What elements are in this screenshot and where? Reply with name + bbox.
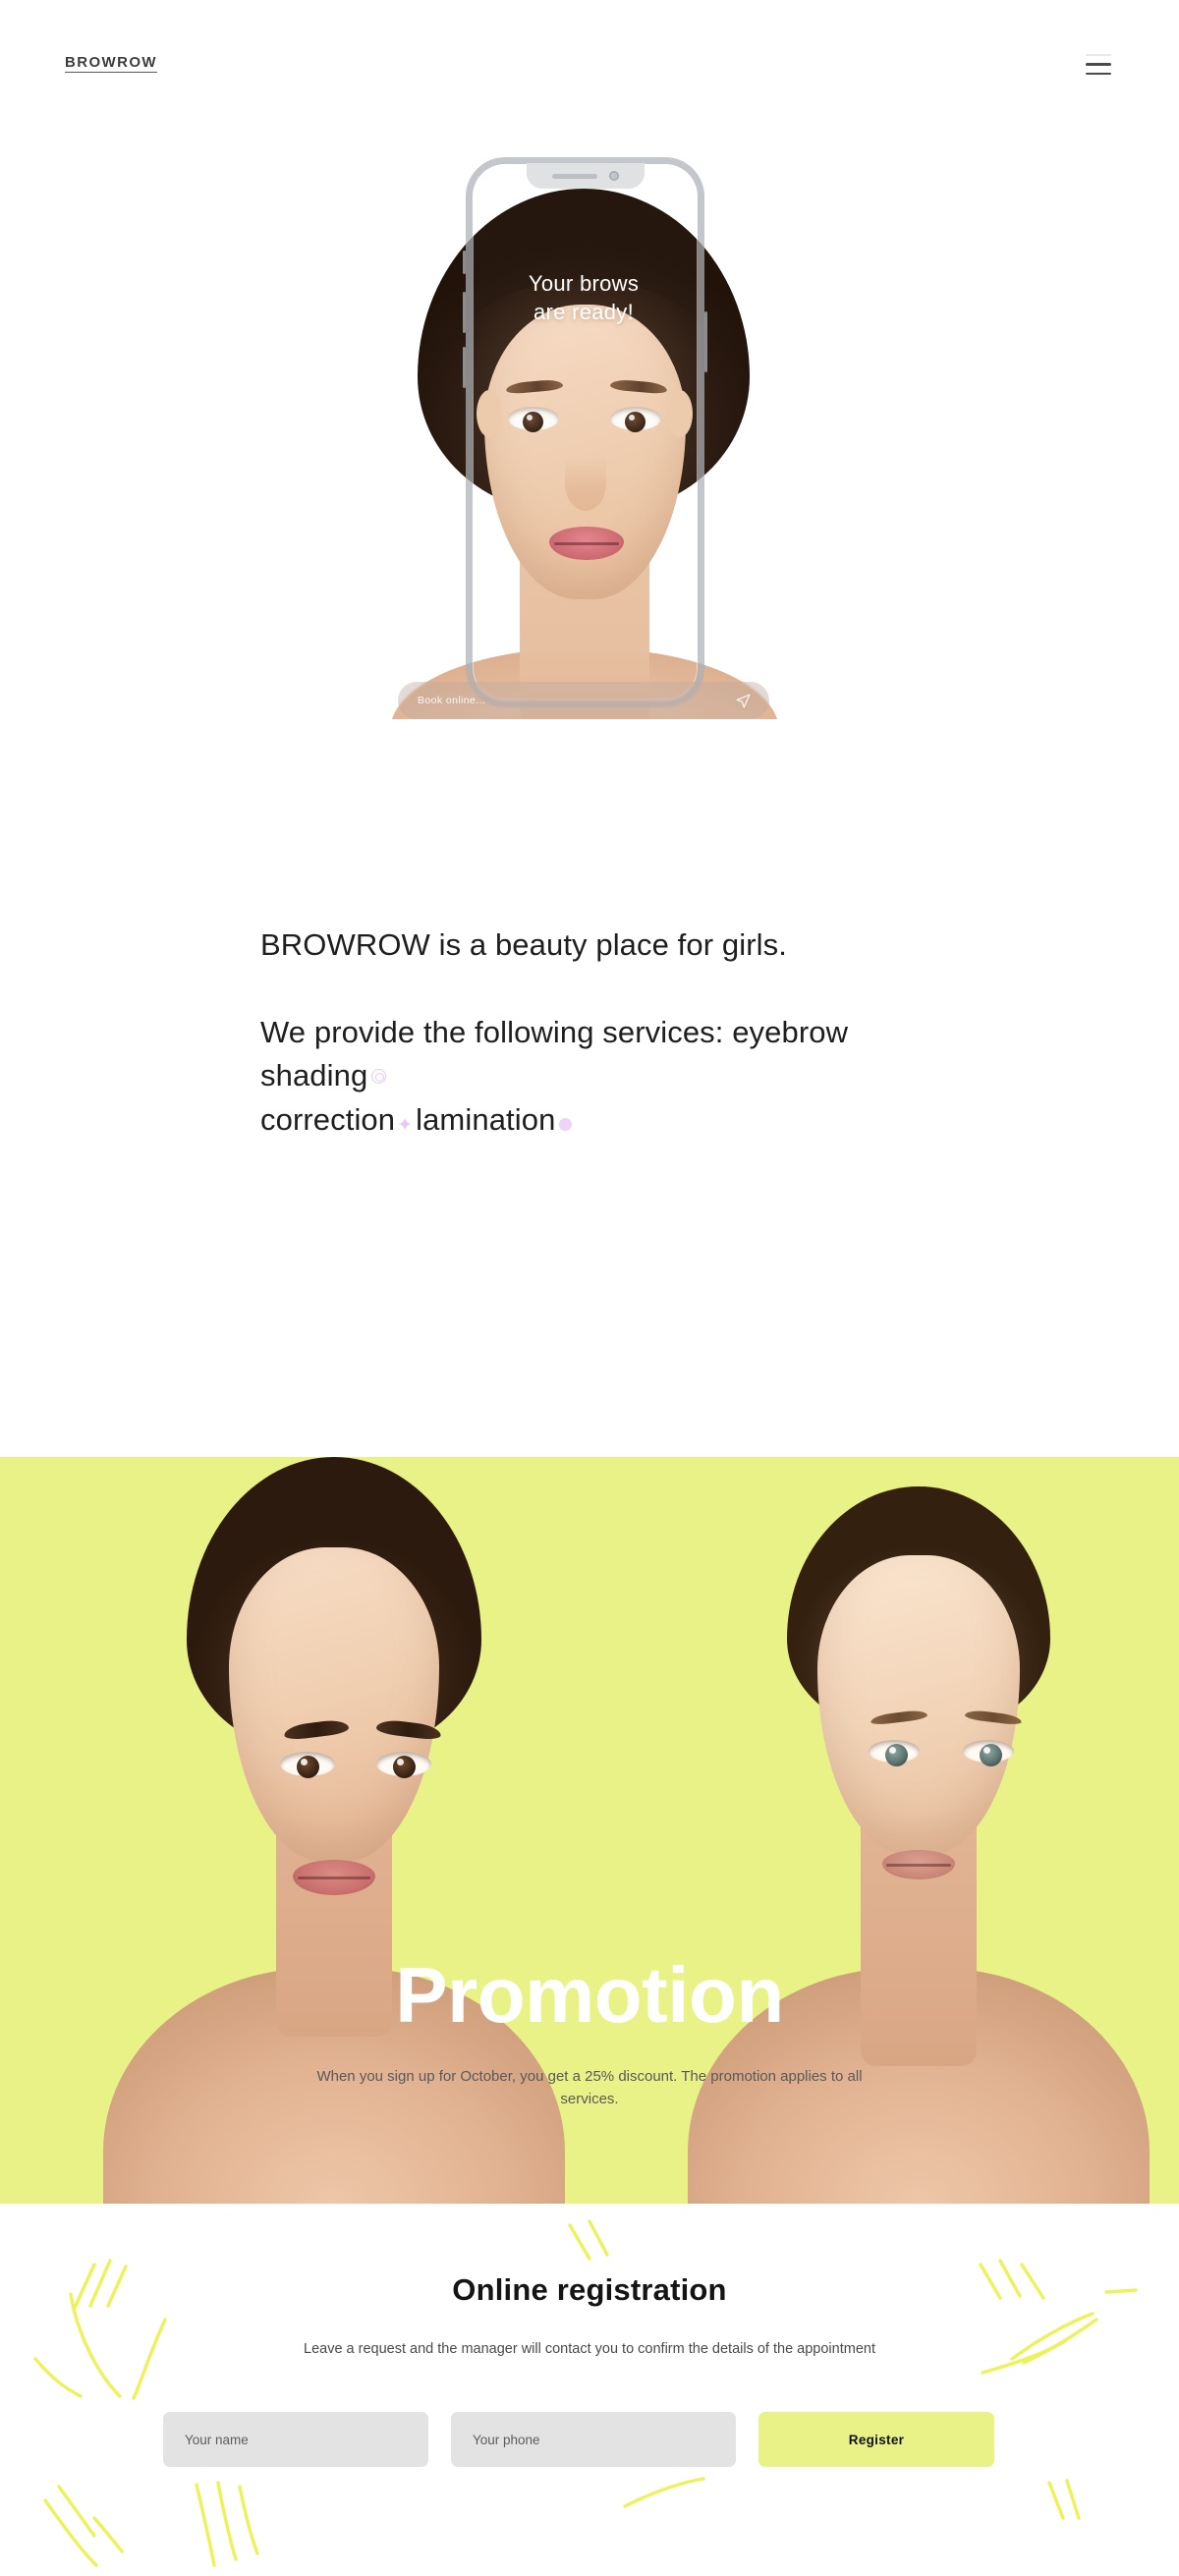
about-paragraph-1: BROWROW is a beauty place for girls. — [260, 924, 948, 968]
registration-section: Online registration Leave a request and … — [0, 2204, 1179, 2576]
about-services-text: We provide the following services: eyebr… — [260, 1015, 848, 1093]
registration-subtitle: Leave a request and the manager will con… — [285, 2338, 894, 2360]
send-icon[interactable] — [735, 693, 752, 709]
hamburger-menu-icon[interactable] — [1086, 53, 1117, 75]
registration-title: Online registration — [0, 2272, 1179, 2308]
phone-headline: Your brows are ready! — [382, 269, 785, 326]
promotion-section: Promotion When you sign up for October, … — [0, 1457, 1179, 2204]
phone-headline-line-1: Your brows — [382, 269, 785, 298]
name-input[interactable] — [163, 2412, 428, 2467]
site-header: BROWROW — [0, 0, 1179, 128]
phone-notch — [527, 163, 645, 189]
hamburger-line-2 — [1086, 63, 1111, 65]
promotion-title: Promotion — [395, 1956, 783, 2035]
promotion-text-block: Promotion When you sign up for October, … — [0, 1457, 1179, 2204]
promotion-subtitle: When you sign up for October, you get a … — [295, 2066, 884, 2111]
registration-form: Register — [163, 2412, 1016, 2467]
about-lamination-text: lamination — [416, 1102, 555, 1137]
phone-side-button-volume-down — [463, 347, 466, 388]
book-online-input[interactable]: Book online... — [398, 682, 769, 719]
logo[interactable]: BROWROW — [65, 55, 157, 73]
phone-camera-icon — [609, 171, 619, 181]
register-button[interactable]: Register — [758, 2412, 994, 2467]
phone-input[interactable] — [451, 2412, 736, 2467]
about-paragraph-2: We provide the following services: eyebr… — [260, 1011, 948, 1143]
book-online-placeholder: Book online... — [418, 695, 485, 706]
phone-headline-line-2: are ready! — [382, 298, 785, 326]
decorative-squiggles — [0, 2204, 1179, 2576]
phone-mockup-frame — [466, 157, 704, 707]
sparkle-decoration-icon: ✦ — [397, 1119, 414, 1136]
phone-speaker-icon — [552, 174, 597, 179]
dot-decoration-icon — [559, 1118, 572, 1131]
hero-section: Your brows are ready! Book online... — [0, 128, 1179, 756]
hamburger-line-3 — [1086, 73, 1111, 75]
about-section: BROWROW is a beauty place for girls. We … — [260, 924, 948, 1143]
spiral-decoration-icon — [371, 1069, 386, 1084]
hero-stage: Your brows are ready! Book online... — [382, 157, 785, 747]
about-correction-text: correction — [260, 1102, 395, 1137]
hamburger-line-1 — [1086, 54, 1111, 56]
